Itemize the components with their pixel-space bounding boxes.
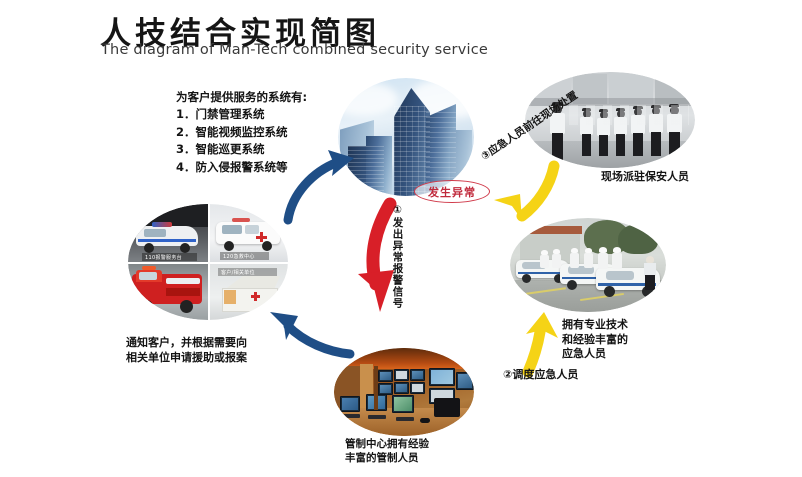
tile-ambulance-strip: 120急救中心 (220, 252, 269, 260)
arrow-yellow-to-patrol (510, 310, 570, 376)
systems-heading: 为客户提供服务的系统有: (176, 90, 307, 105)
systems-item-2: 2．智能视频监控系统 (176, 125, 307, 140)
node-emergency-caption: 通知客户，并根据需要向 相关单位申请援助或报案 (126, 336, 247, 365)
tile-fire-engine (128, 264, 208, 320)
flow-label-step2: ②调度应急人员 (503, 368, 578, 383)
tile-police-car: 110报警服务台 (128, 204, 208, 262)
page-subtitle: The diagram of Man-Tech combined securit… (101, 42, 488, 58)
arrow-red-to-control (350, 200, 422, 316)
abnormality-badge: 发生异常 (414, 180, 490, 203)
tile-relief-tent-strip: 客户/相关单位 (218, 268, 277, 276)
node-control-caption: 管制中心拥有经验 丰富的管制人员 (345, 437, 429, 465)
tile-ambulance: 120急救中心 (210, 204, 288, 262)
node-guards-caption: 现场派驻保安人员 (601, 170, 689, 185)
node-patrol-photo (510, 218, 666, 312)
node-patrol-caption: 拥有专业技术 和经验丰富的 应急人员 (562, 318, 628, 362)
tile-police-car-strip: 110报警服务台 (142, 253, 197, 261)
arrow-yellow-to-guards (492, 146, 578, 222)
diagram-canvas: 人技结合实现简图 The diagram of Man-Tech combine… (0, 0, 802, 477)
flow-label-step1: ①发出异常报警信号 (392, 204, 403, 309)
node-emergency-photo: 110报警服务台 120急救中心 (128, 204, 288, 320)
systems-item-1: 1．门禁管理系统 (176, 107, 307, 122)
arrow-blue-to-emergency (268, 300, 356, 362)
